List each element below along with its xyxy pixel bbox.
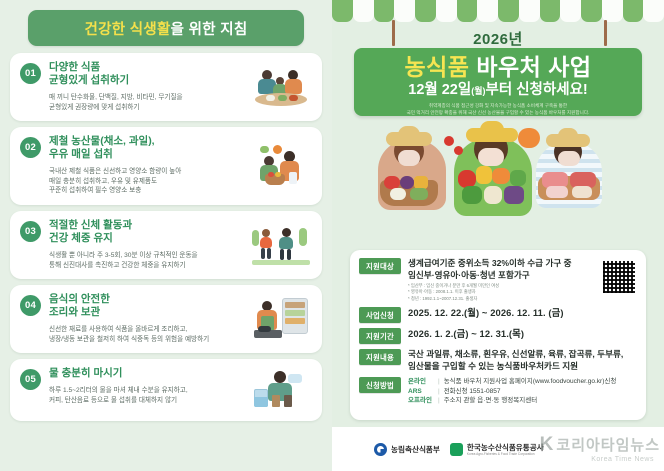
card-number-badge: 02 <box>20 137 41 158</box>
taegeuk-icon <box>374 443 387 456</box>
at-mark-icon <box>450 443 463 456</box>
support-period-text: 2026. 1. 2.(금) ~ 12. 31.(목) <box>408 328 637 340</box>
card-description: 매 끼니 탄수화물, 단백질, 지방, 비타민, 무기질을 균형있게 권장량에 … <box>49 93 238 112</box>
info-value: 온라인 | 농식품 바우처 지원사업 홈페이지(www.foodvoucher.… <box>408 377 637 406</box>
card-title: 물 충분히 마시기 <box>49 367 238 380</box>
guideline-card-01: 01 다양한 식품 균형있게 섭취하기 매 끼니 탄수화물, 단백질, 지방, … <box>10 53 322 121</box>
title-rest: 을 위한 지침 <box>171 22 248 38</box>
food-voucher-poster-panel: 2026년 농식품 바우처 사업 12월 22일(월)부터 신청하세요! 취약계… <box>332 0 664 471</box>
card-text: 적절한 신체 활동과 건강 체중 유지 식생활 뿐 아니라 주 3-5회, 30… <box>49 219 242 270</box>
poster-subtitle: 12월 22일(월)부터 신청하세요! <box>354 81 642 100</box>
title-highlight: 건강한 식생활 <box>84 22 170 38</box>
card-text: 물 충분히 마시기 하루 1.5~2리터의 물을 마셔 체내 수분을 유지하고,… <box>49 367 242 412</box>
at-logo-subtext: Korea Agro-Fisheries & Food Trade Corpor… <box>467 452 544 456</box>
card-illustration <box>250 61 312 112</box>
awning-stripe <box>332 0 353 22</box>
card-title: 제철 농산물(채소, 과일), 우유 매일 섭취 <box>49 135 238 161</box>
apply-channel: 온라인 <box>408 377 434 387</box>
footer-logos: 농림축산식품부 한국농수산식품유통공사 Korea Agro-Fisheries… <box>332 427 664 471</box>
poster-title-rest: 바우처 사업 <box>476 54 591 80</box>
info-label: 지원내용 <box>359 349 401 365</box>
card-description: 식생활 뿐 아니라 주 3-5회, 30분 이상 규칙적인 운동을 통해 신진대… <box>49 251 238 270</box>
apply-method-online: 온라인 | 농식품 바우처 지원사업 홈페이지(www.foodvoucher.… <box>408 377 637 387</box>
at-logo-text: 한국농수산식품유통공사 <box>467 443 544 452</box>
apply-channel: 오프라인 <box>408 396 434 406</box>
awning-stripe <box>623 0 644 22</box>
card-number-badge: 04 <box>20 295 41 316</box>
awning-stripe <box>457 0 478 22</box>
family-eating-meal-icon <box>252 66 310 108</box>
qr-code-icon[interactable] <box>602 260 636 294</box>
card-description: 신선한 재료를 사용하여 식품을 올바르게 조리하고, 냉장/냉동 보관을 철저… <box>49 325 238 344</box>
awning-stripe <box>436 0 457 22</box>
apply-detail[interactable]: 농식품 바우처 지원사업 홈페이지(www.foodvoucher.go.kr)… <box>444 377 637 387</box>
left-panel-title: 건강한 식생활을 위한 지침 <box>84 18 247 39</box>
guideline-card-02: 02 제철 농산물(채소, 과일), 우유 매일 섭취 국내산 제철 식품은 신… <box>10 127 322 205</box>
card-description: 하루 1.5~2리터의 물을 마셔 체내 수분을 유지하고, 커피, 탄산음료 … <box>49 386 238 405</box>
awning-stripe <box>540 0 561 22</box>
awning-stripe <box>643 0 664 22</box>
awning-stripe <box>394 0 415 22</box>
card-title: 음식의 안전한 조리와 보관 <box>49 293 238 319</box>
apply-detail: 주소지 관할 읍·면·동 행정복지센터 <box>444 396 637 406</box>
card-text: 다양한 식품 균형있게 섭취하기 매 끼니 탄수화물, 단백질, 지방, 비타민… <box>49 61 242 112</box>
awning-stripe <box>602 0 623 22</box>
card-title: 적절한 신체 활동과 건강 체중 유지 <box>49 219 238 245</box>
awning-stripe <box>374 0 395 22</box>
card-text: 음식의 안전한 조리와 보관 신선한 재료를 사용하여 식품을 올바르게 조리하… <box>49 293 242 344</box>
info-label: 신청방법 <box>359 377 401 393</box>
guideline-card-03: 03 적절한 신체 활동과 건강 체중 유지 식생활 뿐 아니라 주 3-5회,… <box>10 211 322 279</box>
info-row-support-period: 지원기간 2026. 1. 2.(금) ~ 12. 31.(목) <box>359 328 637 344</box>
awning-stripe <box>581 0 602 22</box>
apply-separator: | <box>438 387 440 397</box>
ministry-logo-text: 농림축산식품부 <box>391 445 440 454</box>
awning-stripe <box>353 0 374 22</box>
awning-stripe <box>560 0 581 22</box>
info-label: 지원기간 <box>359 328 401 344</box>
apply-start-date: 12월 22일 <box>408 82 471 98</box>
two-people-jogging-icon <box>252 224 310 266</box>
left-panel-header: 건강한 식생활을 위한 지침 <box>28 10 304 46</box>
apply-start-weekday: (월) <box>471 86 485 96</box>
card-illustration <box>250 367 312 412</box>
apply-separator: | <box>438 377 440 387</box>
card-text: 제철 농산물(채소, 과일), 우유 매일 섭취 국내산 제철 식품은 신선하고… <box>49 135 242 196</box>
application-period-text: 2025. 12. 22.(월) ~ 2026. 12. 11. (금) <box>408 307 637 319</box>
awning-decoration <box>332 0 664 22</box>
card-illustration <box>250 135 312 196</box>
at-logo-text-group: 한국농수산식품유통공사 Korea Agro-Fisheries & Food … <box>467 443 544 456</box>
ministry-logo: 농림축산식품부 <box>374 443 440 456</box>
info-value: 국산 과일류, 채소류, 흰우유, 신선알류, 육류, 잡곡류, 두부류, 임산… <box>408 349 637 372</box>
info-row-support-content: 지원내용 국산 과일류, 채소류, 흰우유, 신선알류, 육류, 잡곡류, 두부… <box>359 349 637 372</box>
program-info-card: 지원대상 생계급여기준 중위소득 32%이하 수급 가구 중 임신부·영유아·아… <box>350 250 646 420</box>
info-row-application-period: 사업신청 2025. 12. 22.(월) ~ 2026. 12. 11. (금… <box>359 307 637 323</box>
apply-separator: | <box>438 396 440 406</box>
poster-title-highlight: 농식품 <box>404 54 469 80</box>
poster-year: 2026년 <box>332 28 664 49</box>
info-label: 사업신청 <box>359 307 401 323</box>
guideline-card-list: 01 다양한 식품 균형있게 섭취하기 매 끼니 탄수화물, 단백질, 지방, … <box>10 53 322 421</box>
poster-title: 농식품 바우처 사업 <box>354 54 642 80</box>
card-number-badge: 05 <box>20 369 41 390</box>
awning-stripe <box>519 0 540 22</box>
support-content-text: 국산 과일류, 채소류, 흰우유, 신선알류, 육류, 잡곡류, 두부류, 임산… <box>408 349 637 372</box>
apply-method-ars: ARS | 전화신청 1551-0857 <box>408 387 637 397</box>
info-value: 2026. 1. 2.(금) ~ 12. 31.(목) <box>408 328 637 340</box>
info-label: 지원대상 <box>359 258 401 274</box>
apply-channel: ARS <box>408 387 434 397</box>
info-value: 2025. 12. 22.(월) ~ 2026. 12. 11. (금) <box>408 307 637 319</box>
info-row-eligibility: 지원대상 생계급여기준 중위소득 32%이하 수급 가구 중 임신부·영유아·아… <box>359 258 637 302</box>
poster-title-board: 농식품 바우처 사업 12월 22일(월)부터 신청하세요! 취약계층의 식품 … <box>354 48 642 116</box>
apply-method-offline: 오프라인 | 주소지 관할 읍·면·동 행정복지센터 <box>408 396 637 406</box>
awning-stripe <box>498 0 519 22</box>
card-illustration <box>250 293 312 344</box>
healthy-diet-guidelines-panel: 건강한 식생활을 위한 지침 01 다양한 식품 균형있게 섭취하기 매 끼니 … <box>0 0 332 471</box>
apply-detail: 전화신청 1551-0857 <box>444 387 637 397</box>
at-corporation-logo: 한국농수산식품유통공사 Korea Agro-Fisheries & Food … <box>450 443 544 456</box>
card-description: 국내산 제철 식품은 신선하고 영양소 함량이 높아 매일 충분히 섭취하고, … <box>49 167 238 196</box>
guideline-card-05: 05 물 충분히 마시기 하루 1.5~2리터의 물을 마셔 체내 수분을 유지… <box>10 359 322 421</box>
awning-stripe <box>477 0 498 22</box>
card-number-badge: 03 <box>20 221 41 242</box>
poster-page: 건강한 식생활을 위한 지침 01 다양한 식품 균형있게 섭취하기 매 끼니 … <box>0 0 664 471</box>
mother-child-vegetables-icon <box>252 145 310 187</box>
guideline-card-04: 04 음식의 안전한 조리와 보관 신선한 재료를 사용하여 식품을 올바르게 … <box>10 285 322 353</box>
info-row-how-to-apply: 신청방법 온라인 | 농식품 바우처 지원사업 홈페이지(www.foodvou… <box>359 377 637 406</box>
man-drinking-water-icon <box>252 369 310 411</box>
woman-cooking-fridge-icon <box>252 298 310 340</box>
apply-call-to-action: 부터 신청하세요! <box>486 82 588 98</box>
awning-stripe <box>415 0 436 22</box>
poster-lead-text: 취약계층의 식품 접근성 강화 및 지속가능한 농식품 소비체계 구축을 통한 … <box>354 103 642 116</box>
three-farmers-illustration <box>332 118 664 246</box>
card-number-badge: 01 <box>20 63 41 84</box>
card-title: 다양한 식품 균형있게 섭취하기 <box>49 61 238 87</box>
card-illustration <box>250 219 312 270</box>
